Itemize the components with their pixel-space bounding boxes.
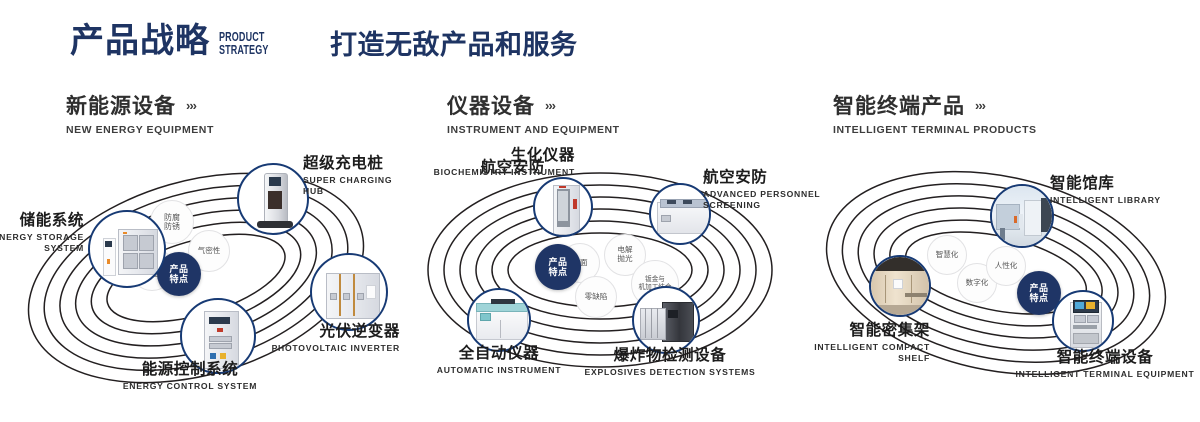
chevrons-right-icon: ›››	[545, 99, 555, 112]
section-title-new-energy: 新能源设备 ››› NEW ENERGY EQUIPMENT	[66, 96, 214, 136]
photo-explosives-detection	[634, 288, 698, 352]
photo-biochemistry-instrument	[535, 179, 591, 235]
section-title-text: 新能源设备	[66, 96, 176, 117]
photo-energy-storage-system	[90, 212, 164, 286]
page-title: 产品战略 PRODUCT STRATEGY	[70, 24, 349, 58]
caption-automatic-instrument: 全自动仪器 AUTOMATIC INSTRUMENT	[409, 346, 589, 376]
node-photo-automatic-instrument[interactable]	[467, 288, 531, 352]
node-photo-intelligent-library[interactable]	[990, 184, 1054, 248]
photo-automatic-instrument	[469, 290, 529, 350]
section-title-text: 仪器设备	[447, 96, 535, 117]
caption-intelligent-terminal-equipment: 智能终端设备 INTELLIGENT TERMINAL EQUIPMENT	[1010, 350, 1200, 380]
caption-energy-control-system: 能源控制系统 ENERGY CONTROL SYSTEM	[80, 362, 300, 392]
section-title-cn: 智能终端产品 ›››	[833, 96, 1037, 117]
photo-intelligent-terminal-equipment	[1054, 292, 1112, 350]
caption-intelligent-compact-shelf: 智能密集架 INTELLIGENT COMPACT SHELF	[782, 323, 930, 364]
photo-photovoltaic-inverter	[312, 255, 386, 329]
cluster-new-energy: 户外 防腐 防锈 防水 防尘 气密性 产品 特点	[0, 150, 400, 422]
node-photo-photovoltaic-inverter[interactable]	[310, 253, 388, 331]
section-title-intelligent: 智能终端产品 ››› INTELLIGENT TERMINAL PRODUCTS	[833, 96, 1037, 136]
section-title-instrument: 仪器设备 ››› INSTRUMENT AND EQUIPMENT	[447, 96, 620, 136]
product-feature-badge: 产品 特点	[535, 244, 581, 290]
page-subtitle: 打造无敌产品和服务	[330, 32, 578, 59]
node-photo-explosives-detection[interactable]	[632, 286, 700, 354]
caption-intelligent-library: 智能馆库 INTELLIGENT LIBRARY	[1050, 176, 1190, 206]
photo-intelligent-library	[992, 186, 1052, 246]
page-title-en-line1: PRODUCT	[219, 31, 313, 44]
node-photo-intelligent-compact-shelf[interactable]	[869, 255, 931, 317]
caption-energy-storage-system: 储能系统 ENERGY STORAGE SYSTEM	[0, 213, 84, 254]
page-title-en-line2: STRATEGY	[219, 44, 313, 57]
photo-intelligent-compact-shelf	[871, 257, 929, 315]
node-photo-intelligent-terminal-equipment[interactable]	[1052, 290, 1114, 352]
node-photo-biochemistry-instrument[interactable]	[533, 177, 593, 237]
node-photo-energy-storage-system[interactable]	[88, 210, 166, 288]
photo-advanced-personnel-screening	[651, 185, 709, 243]
section-title-en: NEW ENERGY EQUIPMENT	[66, 124, 214, 136]
section-title-text: 智能终端产品	[833, 96, 965, 117]
caption-explosives-detection: 爆炸物检测设备 EXPLOSIVES DETECTION SYSTEMS	[570, 348, 770, 378]
caption-photovoltaic-inverter: 光伏逆变器 PHOTOVOLTAIC INVERTER	[268, 324, 400, 354]
chevrons-right-icon: ›››	[186, 99, 196, 112]
caption-biochemistry-instrument: 生化仪器 BIOCHEMISTRY INSTRUMENT	[420, 148, 575, 178]
feature-bubble-zero-defect: 零缺陷	[575, 276, 617, 318]
chevrons-right-icon: ›››	[975, 99, 985, 112]
section-title-en: INTELLIGENT TERMINAL PRODUCTS	[833, 124, 1037, 136]
cluster-intelligent: 智慧化 数字化 人性化 产品 特点 智能馆库 INTELLI	[800, 150, 1200, 422]
section-title-cn: 仪器设备 ›››	[447, 96, 620, 117]
photo-super-charging-hub	[239, 165, 307, 233]
section-title-en: INSTRUMENT AND EQUIPMENT	[447, 124, 620, 136]
page-title-en: PRODUCT STRATEGY	[219, 31, 313, 56]
node-photo-advanced-personnel-screening[interactable]	[649, 183, 711, 245]
node-photo-super-charging-hub[interactable]	[237, 163, 309, 235]
product-strategy-infographic: 产品战略 PRODUCT STRATEGY 打造无敌产品和服务 新能源设备 ››…	[0, 0, 1200, 422]
page-title-cn: 产品战略	[70, 24, 210, 58]
section-title-cn: 新能源设备 ›››	[66, 96, 214, 117]
cluster-instrument: 镜面 电解 抛光 零缺陷 钣金与 机加工结合 产品 特点	[400, 150, 800, 422]
